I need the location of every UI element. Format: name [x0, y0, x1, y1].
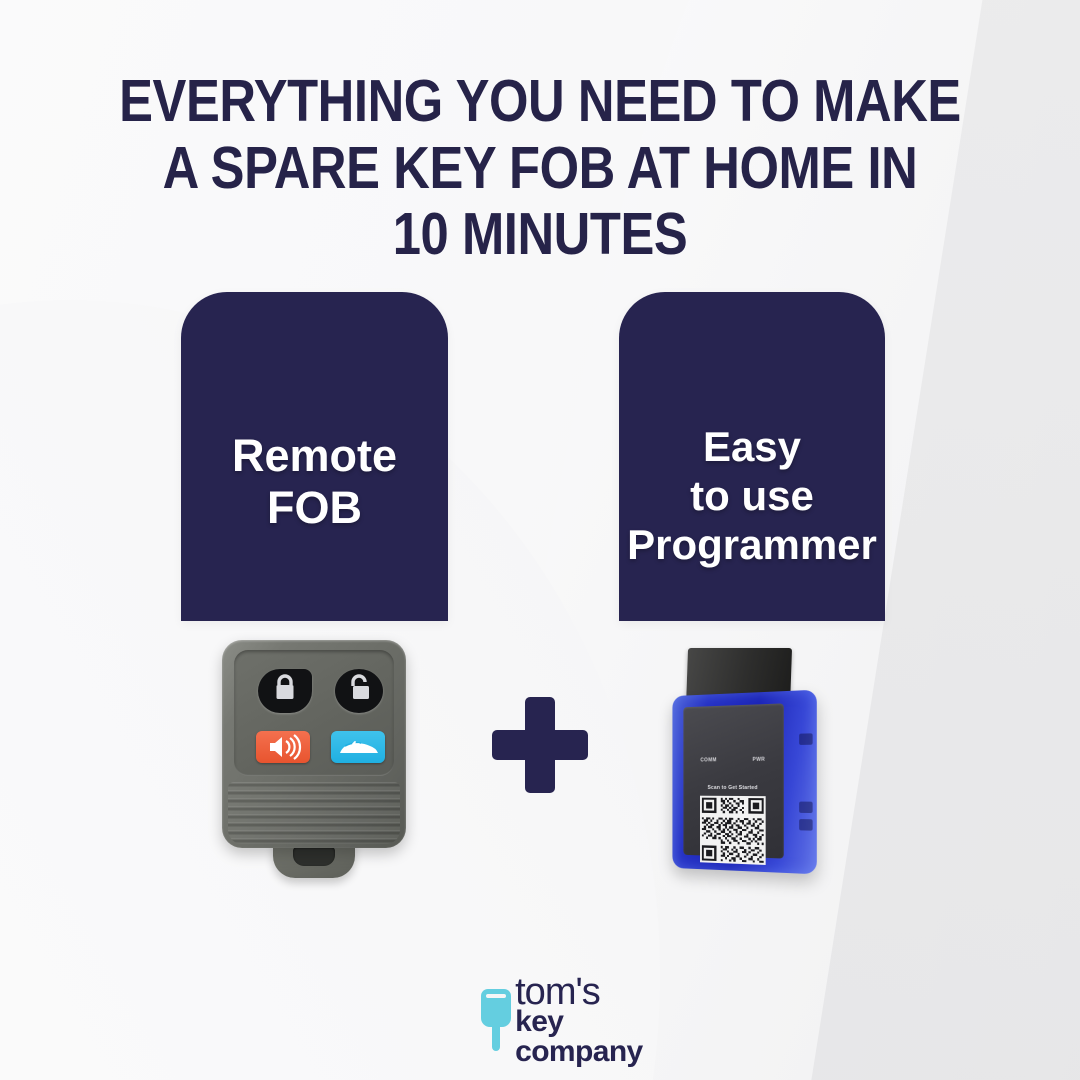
obd-programmer-image: COMM PWR Scan to Get Started — [668, 648, 826, 873]
card-programmer: Easy to use Programmer — [619, 292, 885, 621]
obd-face-plate: COMM PWR Scan to Get Started — [683, 703, 783, 858]
plus-icon — [492, 697, 588, 793]
siren-icon — [256, 731, 310, 763]
car-trunk-icon — [331, 731, 385, 763]
obd-scan-text: Scan to Get Started — [683, 785, 783, 791]
obd-led-pwr: PWR — [752, 757, 765, 766]
trunk-button — [331, 731, 385, 763]
key-fob-ribbed-grip — [228, 782, 400, 844]
card-programmer-label: Easy to use Programmer — [627, 422, 877, 621]
key-fob-body — [222, 640, 406, 848]
card-remote-fob: Remote FOB — [181, 292, 448, 621]
obd-led-comm: COMM — [700, 757, 716, 766]
card-remote-fob-label: Remote FOB — [232, 430, 397, 621]
key-icon — [481, 989, 508, 1051]
obd-side-notch — [799, 733, 812, 745]
obd-side-notch — [799, 802, 812, 814]
brand-logo-text: tom's key company — [515, 973, 681, 1067]
lock-open-icon — [335, 669, 383, 713]
poster-canvas: EVERYTHING YOU NEED TO MAKE A SPARE KEY … — [0, 0, 1080, 1080]
obd-side-notch — [799, 819, 812, 831]
obd-led-comm-label: COMM — [700, 757, 716, 763]
panic-button — [256, 731, 310, 763]
obd-led-pwr-label: PWR — [752, 757, 765, 763]
lock-button — [258, 669, 312, 713]
obd-shell: COMM PWR Scan to Get Started — [672, 690, 816, 875]
key-fob-image — [222, 640, 406, 880]
page-title: EVERYTHING YOU NEED TO MAKE A SPARE KEY … — [76, 68, 1005, 268]
brand-logo: tom's key company — [481, 985, 681, 1055]
key-icon-slot — [486, 994, 506, 998]
qr-code-icon — [700, 796, 766, 865]
key-fob-keyring-hole — [293, 847, 335, 866]
brand-logo-line2: key company — [515, 1007, 681, 1067]
unlock-button — [335, 669, 383, 713]
obd-led-row: COMM PWR — [683, 756, 783, 766]
key-icon-stem — [492, 1025, 500, 1051]
plus-icon-bar-vertical — [525, 697, 555, 793]
lock-closed-icon — [258, 669, 312, 713]
key-fob-button-well — [234, 650, 394, 776]
